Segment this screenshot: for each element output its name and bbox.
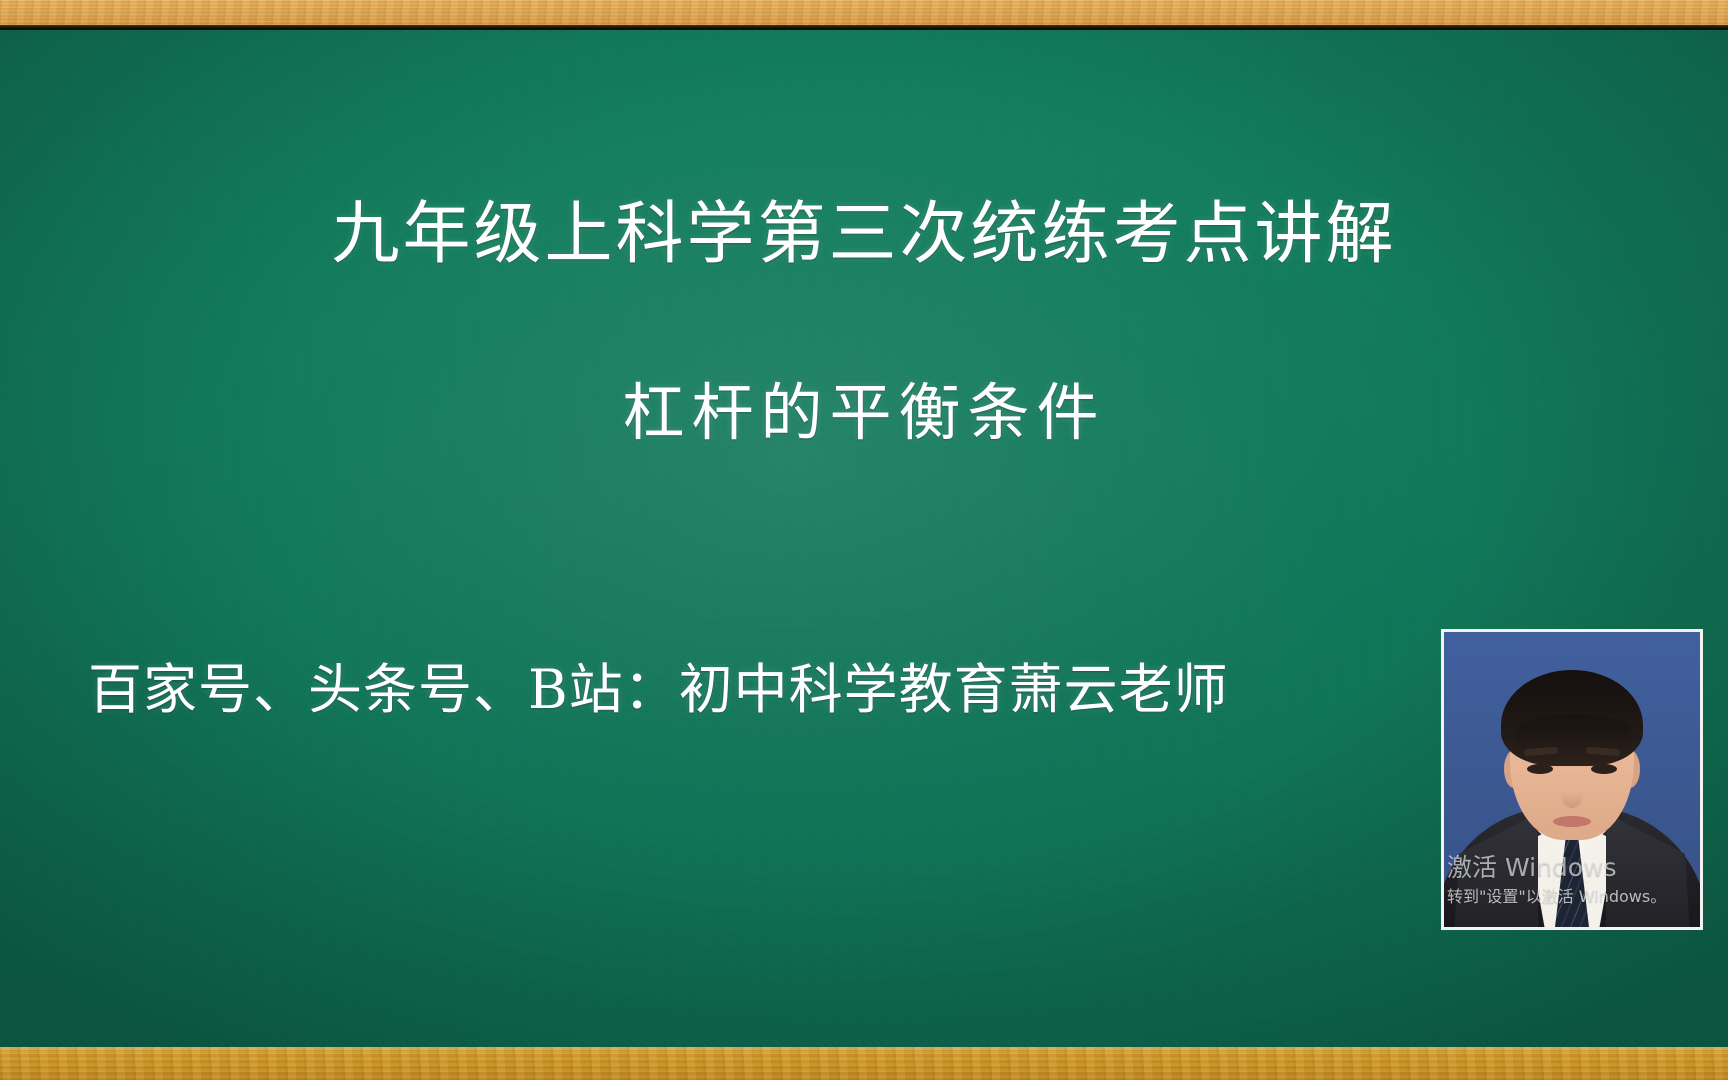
portrait-image <box>1444 632 1700 927</box>
slide-title: 九年级上科学第三次统练考点讲解 <box>0 178 1728 277</box>
portrait-eye-left <box>1527 764 1553 774</box>
slide-subtitle: 杠杆的平衡条件 <box>0 362 1728 452</box>
portrait-nose <box>1561 782 1583 808</box>
instructor-portrait <box>1441 629 1703 930</box>
slide-canvas: 九年级上科学第三次统练考点讲解 杠杆的平衡条件 百家号、头条号、B站：初中科学教… <box>0 0 1728 1080</box>
wood-grain-top <box>0 0 1728 30</box>
portrait-eye-right <box>1591 764 1617 774</box>
portrait-mouth <box>1553 816 1591 827</box>
wooden-frame-bottom <box>0 1047 1728 1080</box>
portrait-hair <box>1501 670 1643 766</box>
wood-grain-bottom <box>0 1047 1728 1080</box>
wooden-frame-top <box>0 0 1728 30</box>
channel-credit-line: 百家号、头条号、B站：初中科学教育萧云老师 <box>88 645 1229 724</box>
